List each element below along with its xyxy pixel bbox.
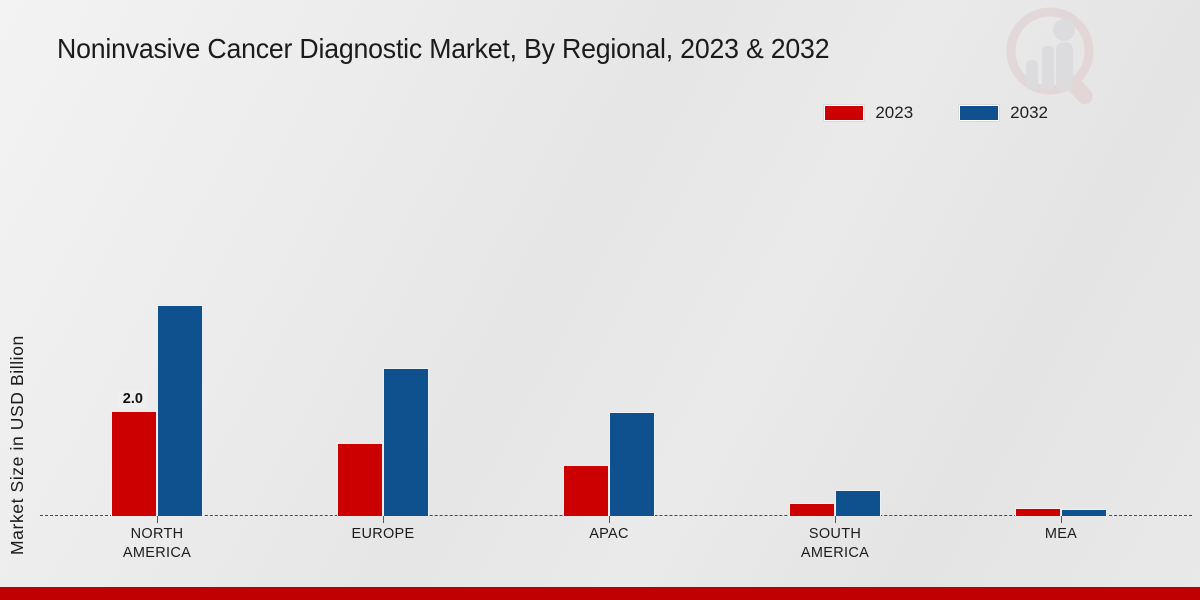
x-axis-label-line: NORTH xyxy=(57,525,257,544)
bar-2023-mea[interactable] xyxy=(1015,508,1061,516)
bar-2023-north-america[interactable]: 2.0 xyxy=(111,411,157,516)
bar-group xyxy=(563,135,655,516)
bar-2032-south-america[interactable] xyxy=(835,490,881,516)
bar-group xyxy=(337,135,429,516)
x-axis-tick xyxy=(157,516,158,523)
legend-label-2023: 2023 xyxy=(875,103,913,123)
bar-2032-north-america[interactable] xyxy=(157,305,203,516)
bar-group: 2.0 xyxy=(111,135,203,516)
x-axis-tick xyxy=(383,516,384,523)
x-axis-label-line: EUROPE xyxy=(283,525,483,544)
x-axis-tick xyxy=(609,516,610,523)
watermark-logo-icon xyxy=(1004,4,1100,108)
footer-strip xyxy=(0,587,1200,600)
y-axis-title: Market Size in USD Billion xyxy=(0,0,34,565)
x-axis-label-line: APAC xyxy=(509,525,709,544)
bar-2023-apac[interactable] xyxy=(563,465,609,516)
x-axis-label-north-america: NORTHAMERICA xyxy=(57,525,257,563)
bar-2032-apac[interactable] xyxy=(609,412,655,516)
legend-swatch-2032 xyxy=(959,105,999,121)
x-axis-label-line: AMERICA xyxy=(735,544,935,563)
x-axis-label-south-america: SOUTHAMERICA xyxy=(735,525,935,563)
bar-value-label: 2.0 xyxy=(119,390,147,409)
bar-2032-europe[interactable] xyxy=(383,368,429,516)
legend-swatch-2023 xyxy=(824,105,864,121)
bar-2032-mea[interactable] xyxy=(1061,509,1107,516)
legend-label-2032: 2032 xyxy=(1010,103,1048,123)
page-title: Noninvasive Cancer Diagnostic Market, By… xyxy=(57,33,829,65)
x-axis-label-europe: EUROPE xyxy=(283,525,483,544)
x-axis-label-mea: MEA xyxy=(961,525,1161,544)
legend-item-2032[interactable]: 2032 xyxy=(959,103,1048,123)
bar-2023-europe[interactable] xyxy=(337,443,383,516)
x-axis-label-line: MEA xyxy=(961,525,1161,544)
chart-legend: 2023 2032 xyxy=(824,103,1048,123)
x-axis-label-line: AMERICA xyxy=(57,544,257,563)
x-axis-tick xyxy=(1061,516,1062,523)
bar-group xyxy=(1015,135,1107,516)
legend-item-2023[interactable]: 2023 xyxy=(824,103,913,123)
bar-group xyxy=(789,135,881,516)
bar-2023-south-america[interactable] xyxy=(789,503,835,516)
chart-canvas: Noninvasive Cancer Diagnostic Market, By… xyxy=(0,0,1200,600)
x-axis-label-line: SOUTH xyxy=(735,525,935,544)
x-axis-tick xyxy=(835,516,836,523)
x-axis-label-apac: APAC xyxy=(509,525,709,544)
